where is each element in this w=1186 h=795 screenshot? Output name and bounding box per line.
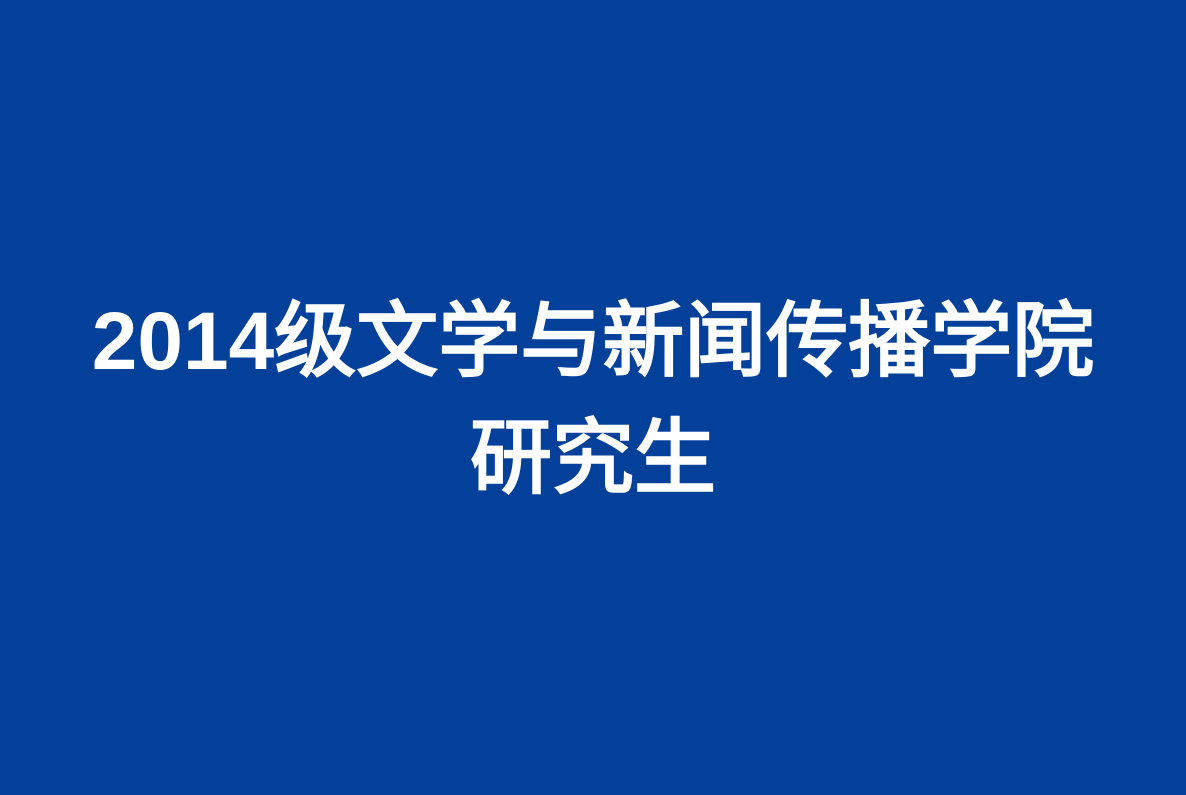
slide-title-block: 2014级文学与新闻传播学院 研究生 [0,283,1186,517]
slide-title-line-1: 2014级文学与新闻传播学院 [40,283,1146,400]
slide-title-line-2: 研究生 [40,400,1146,517]
slide-canvas: 2014级文学与新闻传播学院 研究生 [0,0,1186,795]
